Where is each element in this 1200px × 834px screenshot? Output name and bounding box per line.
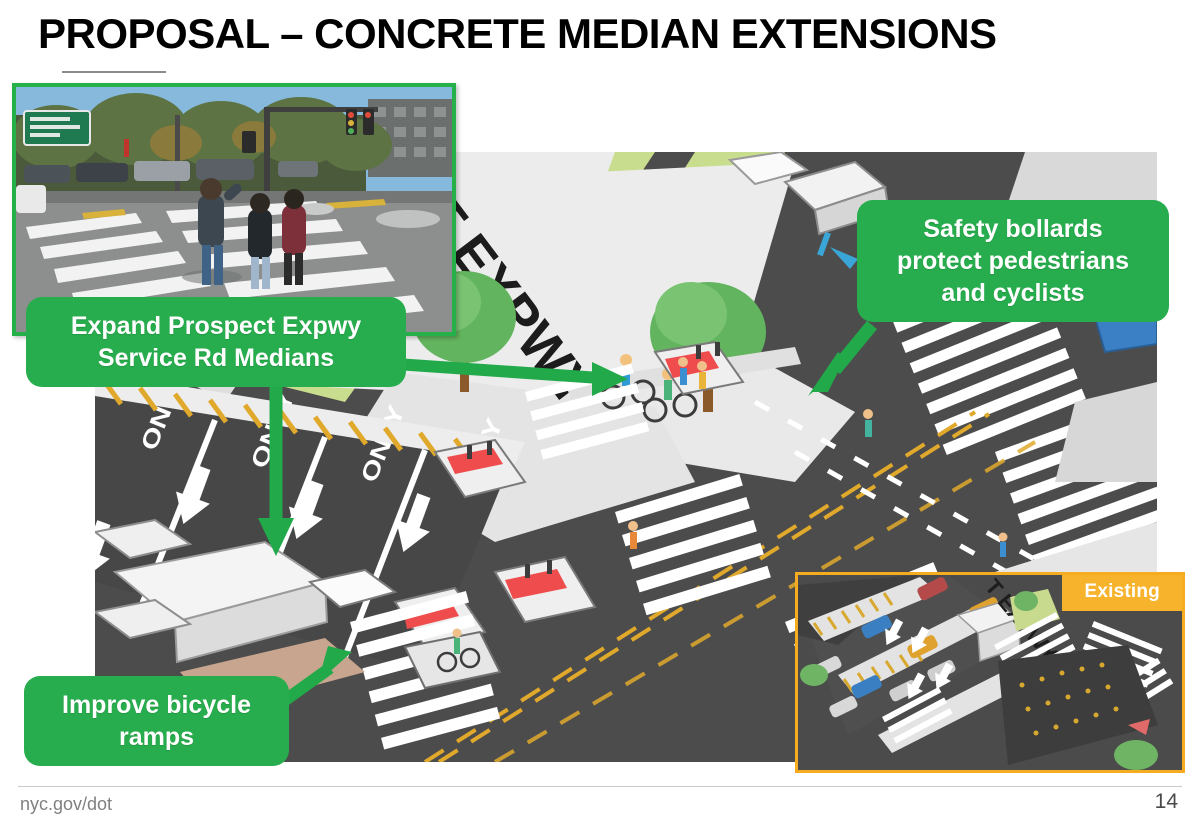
existing-condition-inset: T EXPWY (795, 572, 1185, 773)
footer-divider (18, 786, 1182, 787)
photo-rule-decoration (62, 71, 166, 73)
page-title: PROPOSAL – CONCRETE MEDIAN EXTENSIONS (38, 8, 1178, 60)
existing-badge: Existing (1062, 575, 1182, 611)
callout-expand-medians: Expand Prospect Expwy Service Rd Medians (26, 297, 406, 387)
callout-bicycle-ramps: Improve bicycle ramps (24, 676, 289, 766)
callout-safety-bollards: Safety bollards protect pedestrians and … (857, 200, 1169, 322)
page-number: 14 (1155, 790, 1178, 814)
footer-site-url: nyc.gov/dot (20, 794, 112, 815)
